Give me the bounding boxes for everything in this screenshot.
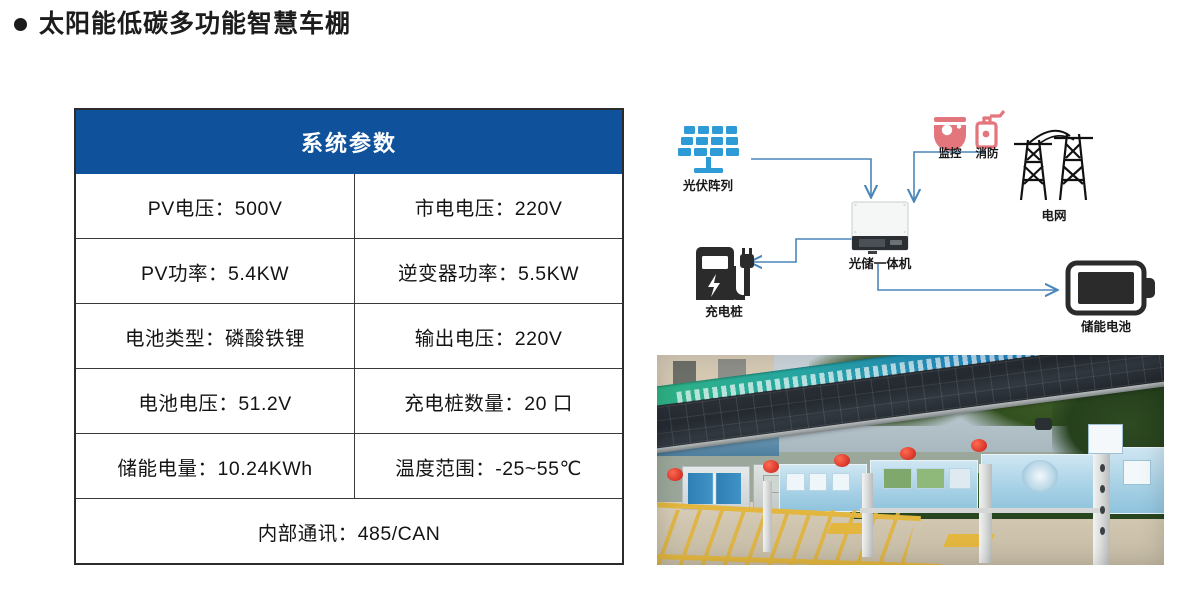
table-row: 内部通讯：485/CAN — [75, 499, 623, 565]
solar-panel-icon — [678, 126, 739, 173]
cell-mains-voltage: 市电电压：220V — [355, 174, 623, 239]
cell-charger-count: 充电桩数量：20 口 — [355, 369, 623, 434]
page-title: 太阳能低碳多功能智慧车棚 — [14, 12, 351, 37]
spec-table-title: 系统参数 — [75, 109, 623, 174]
page-title-text: 太阳能低碳多功能智慧车棚 — [39, 12, 351, 37]
cell-battery-voltage: 电池电压：51.2V — [75, 369, 355, 434]
node-fire: 消防 — [976, 111, 1005, 160]
node-charger: 充电桩 — [696, 247, 754, 319]
spec-table: 系统参数 PV电压：500V 市电电压：220V PV功率：5.4KW 逆变器功… — [74, 108, 624, 565]
cell-inverter-power: 逆变器功率：5.5KW — [355, 239, 623, 304]
node-battery: 储能电池 — [1068, 263, 1155, 334]
cell-output-voltage: 输出电压：220V — [355, 304, 623, 369]
node-label-charger: 充电桩 — [705, 304, 743, 319]
cell-internal-comms: 内部通讯：485/CAN — [75, 499, 623, 565]
table-header-row: 系统参数 — [75, 109, 623, 174]
fire-extinguisher-icon — [977, 111, 1004, 147]
cell-temperature-range: 温度范围：-25~55℃ — [355, 434, 623, 499]
cell-pv-power: PV功率：5.4KW — [75, 239, 355, 304]
power-tower-icon — [1014, 131, 1093, 200]
node-label-grid: 电网 — [1041, 208, 1066, 223]
cctv-camera-icon — [934, 117, 966, 151]
system-diagram: 光伏阵列 监控 消防 电网 — [656, 104, 1166, 352]
node-label-battery: 储能电池 — [1080, 319, 1132, 334]
cell-pv-voltage: PV电压：500V — [75, 174, 355, 239]
table-row: 电池类型：磷酸铁锂 输出电压：220V — [75, 304, 623, 369]
battery-icon — [1068, 263, 1155, 313]
node-monitoring: 监控 — [934, 117, 966, 160]
fire-extinguisher-gauge-icon — [983, 131, 990, 138]
node-pv-array: 光伏阵列 — [678, 126, 739, 193]
table-row: 储能电量：10.24KWh 温度范围：-25~55℃ — [75, 434, 623, 499]
node-label-monitoring: 监控 — [939, 146, 962, 160]
photo-vignette — [657, 355, 1164, 565]
node-label-pv-array: 光伏阵列 — [682, 178, 733, 193]
node-inverter: 光储一体机 — [848, 202, 912, 271]
solar-carport-site-photo — [657, 355, 1164, 565]
node-label-fire: 消防 — [976, 146, 999, 160]
node-label-inverter: 光储一体机 — [848, 256, 912, 271]
hybrid-inverter-icon — [852, 202, 908, 254]
table-row: PV电压：500V 市电电压：220V — [75, 174, 623, 239]
table-row: PV功率：5.4KW 逆变器功率：5.5KW — [75, 239, 623, 304]
table-row: 电池电压：51.2V 充电桩数量：20 口 — [75, 369, 623, 434]
cell-storage-capacity: 储能电量：10.24KWh — [75, 434, 355, 499]
ev-charger-icon — [696, 247, 754, 300]
bullet-icon — [14, 18, 27, 31]
node-grid: 电网 — [1014, 131, 1093, 223]
cell-battery-type: 电池类型：磷酸铁锂 — [75, 304, 355, 369]
